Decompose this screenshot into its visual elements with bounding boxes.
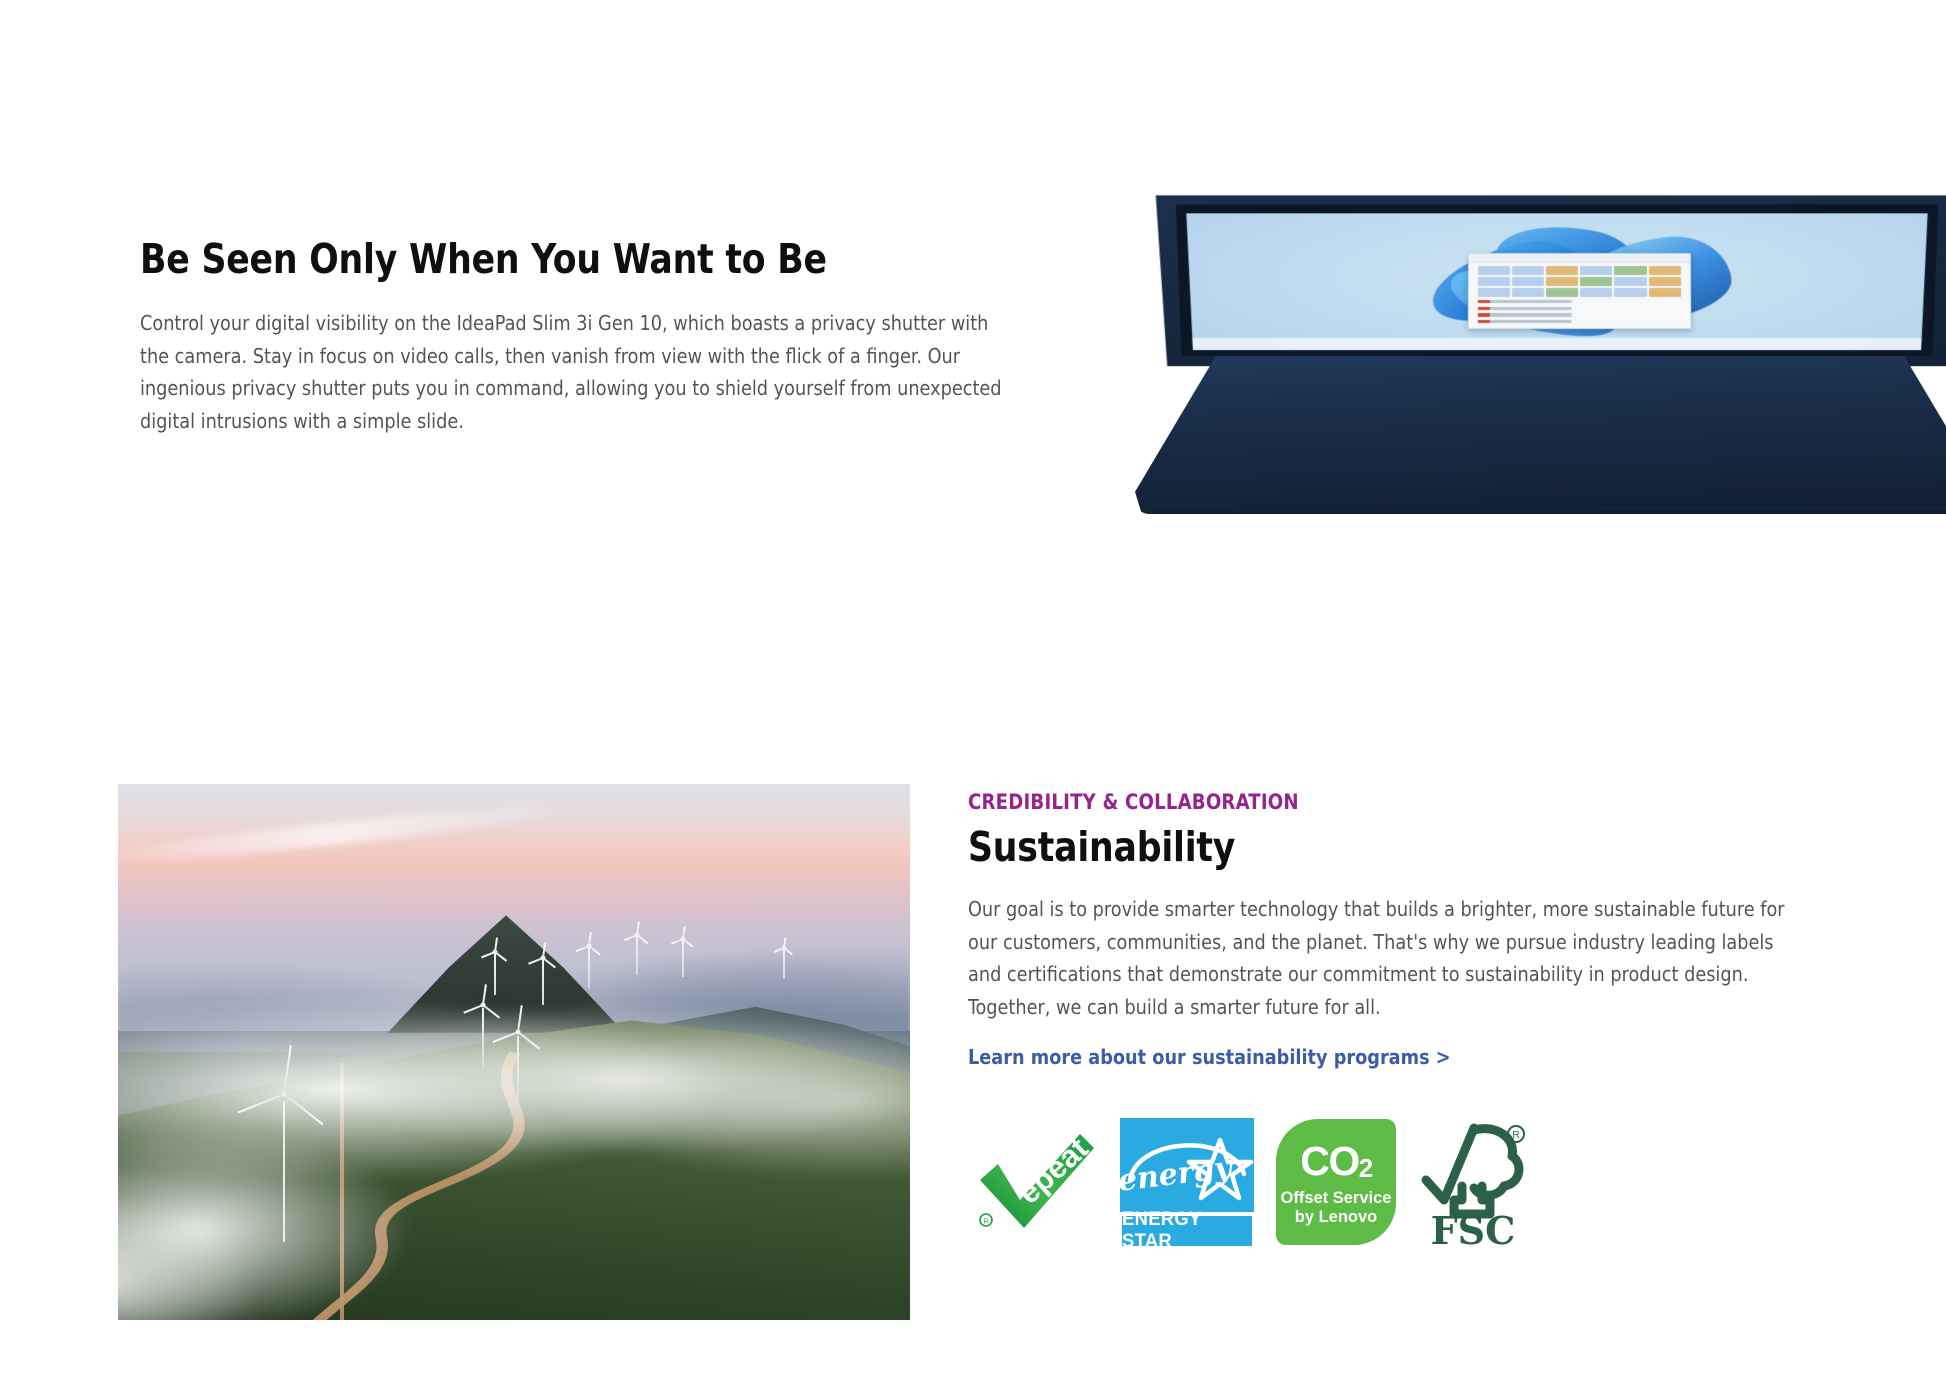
co2-offset-badge-icon: CO2 Offset Service by Lenovo (1276, 1119, 1396, 1245)
laptop-screen (1184, 213, 1930, 350)
certification-badge-row: R epeat energy ENERGY STAR (968, 1118, 1528, 1246)
sustainability-heading: Sustainability (968, 824, 1795, 871)
laptop-bezel (1173, 204, 1941, 356)
fsc-wordmark: FSC (1431, 1208, 1516, 1246)
privacy-heading: Be Seen Only When You Want to Be (140, 236, 986, 283)
cloud-layer-lower (118, 1106, 609, 1320)
window-icon-grid (1478, 266, 1682, 297)
fsc-badge-icon: R FSC (1418, 1118, 1528, 1246)
wind-turbine (625, 923, 649, 975)
laptop-base (1135, 356, 1946, 514)
sustainability-copy-block: CREDIBILITY & COLLABORATION Sustainabili… (968, 790, 1848, 1069)
co2-subtext: Offset Service by Lenovo (1281, 1189, 1392, 1227)
laptop-lid (1149, 185, 1946, 367)
file-explorer-window (1468, 253, 1692, 330)
laptop-product-image: Lenovo IdeaPad Slim 3i Gen 10 laptop, ab… (1135, 184, 1946, 514)
sustainability-body-text: Our goal is to provide smarter technolog… (968, 893, 1803, 1023)
sustainability-eyebrow: CREDIBILITY & COLLABORATION (968, 790, 1813, 814)
laptop-illustration (1135, 184, 1946, 514)
co2-wordmark: CO2 (1300, 1141, 1371, 1182)
energy-script-word: energy (1120, 1150, 1236, 1199)
wind-turbine (577, 934, 601, 988)
wind-turbine (498, 1009, 538, 1113)
privacy-body-text: Control your digital visibility on the I… (140, 307, 1004, 437)
windows-taskbar (1184, 338, 1930, 350)
privacy-shutter-section: Be Seen Only When You Want to Be Control… (0, 0, 1946, 640)
wind-turbine (530, 945, 556, 1005)
energy-star-wordmark: ENERGY STAR (1122, 1216, 1252, 1246)
sustainability-section: Aerial view of wind turbines on a misty … (0, 640, 1946, 1400)
wind-turbine (775, 939, 793, 979)
laptop-front-edge (1152, 506, 1946, 520)
laptop-numpad (1873, 544, 1946, 605)
wind-turbine (672, 929, 694, 977)
laptop-keyboard (1246, 544, 1879, 605)
epeat-badge-icon: R epeat (968, 1124, 1098, 1240)
wind-turbine (466, 988, 500, 1068)
svg-text:R: R (983, 1219, 988, 1226)
window-file-list (1477, 300, 1681, 325)
energy-star-emblem: energy (1120, 1118, 1254, 1212)
energy-star-badge-icon: energy ENERGY STAR (1120, 1118, 1254, 1246)
window-titlebar (1469, 254, 1690, 263)
sustainability-learn-more-link[interactable]: Learn more about our sustainability prog… (968, 1045, 1451, 1069)
svg-text:R: R (1512, 1130, 1519, 1141)
privacy-copy-block: Be Seen Only When You Want to Be Control… (140, 236, 1040, 437)
laptop-camera-bar (1481, 181, 1670, 197)
windfarm-illustration (118, 784, 910, 1320)
windfarm-image: Aerial view of wind turbines on a misty … (118, 784, 910, 1320)
